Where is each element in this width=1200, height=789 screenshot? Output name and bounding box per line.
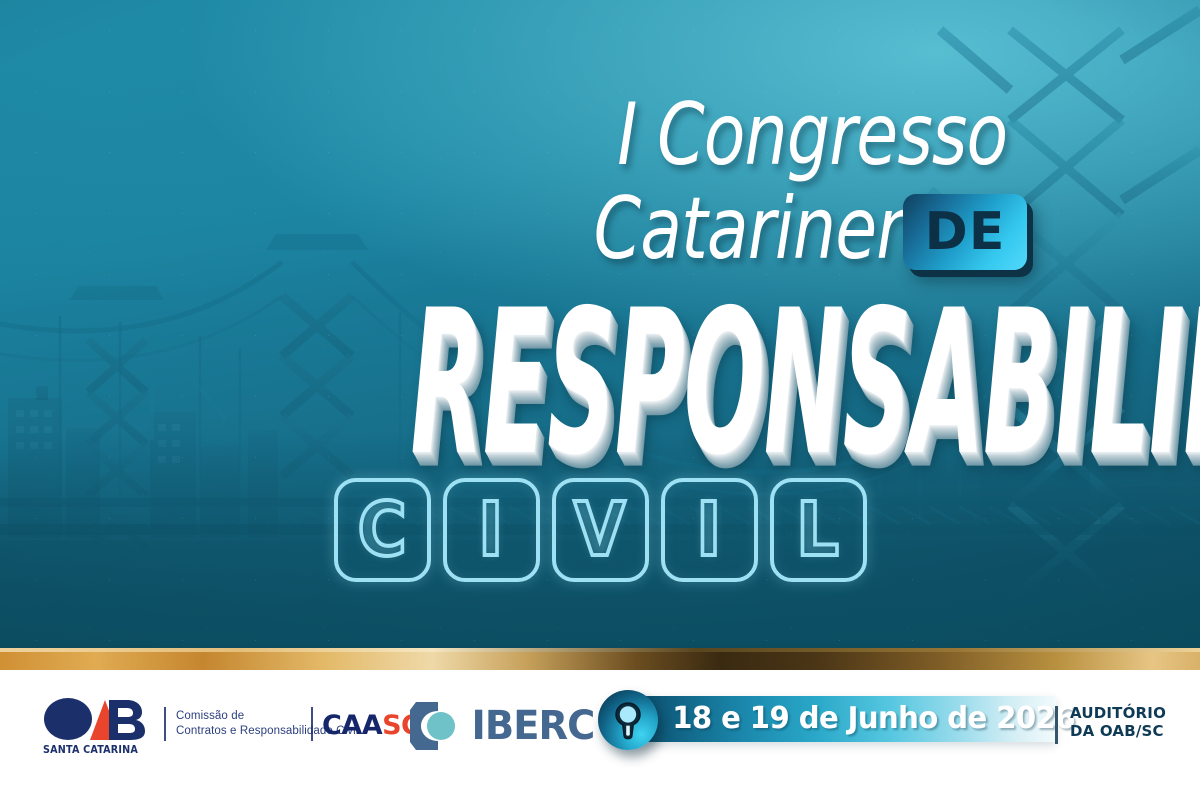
event-poster: I Congresso Catarinense DE RESPONSABILID… — [0, 0, 1200, 789]
caasc-caa: CAA — [322, 710, 382, 741]
civil-letter-box: I — [443, 478, 540, 582]
event-date-bar: 18 e 19 de Junho de 2026 — [620, 696, 1056, 742]
civil-letter: C — [358, 493, 407, 567]
title-line-1: I Congresso — [617, 92, 1007, 178]
footer-divider-2 — [311, 707, 313, 741]
event-date-text: 18 e 19 de Junho de 2026 — [672, 703, 1075, 735]
svg-text:SANTA CATARINA: SANTA CATARINA — [43, 744, 139, 756]
civil-letter-boxes: C I V I L — [0, 478, 1200, 582]
iberc-logo: IBERC — [408, 698, 568, 754]
gold-divider-highlight — [0, 648, 1200, 652]
iberc-bracket-circle-icon — [408, 700, 460, 752]
venue-text: AUDITÓRIO DA OAB/SC — [1070, 704, 1166, 740]
location-pin-icon — [598, 690, 658, 750]
footer-divider-3 — [1055, 706, 1058, 744]
de-badge-label: DE — [925, 206, 1006, 258]
civil-letter: I — [479, 493, 504, 567]
oab-logo-icon: SANTA CATARINA — [43, 698, 147, 756]
civil-letter-box: C — [334, 478, 431, 582]
civil-letter-box: L — [770, 478, 867, 582]
civil-letter: V — [574, 493, 626, 567]
civil-letter: I — [697, 493, 722, 567]
civil-letter-box: V — [552, 478, 649, 582]
venue-line-1: AUDITÓRIO — [1070, 704, 1166, 722]
civil-letter-box: I — [661, 478, 758, 582]
de-badge: DE — [903, 194, 1027, 270]
venue-line-2: DA OAB/SC — [1070, 722, 1166, 740]
civil-letter: L — [797, 493, 839, 567]
headline-responsabilidade: RESPONSABILIDADE — [0, 296, 1200, 462]
iberc-wordmark: IBERC — [472, 706, 595, 746]
headline-text: RESPONSABILIDADE — [411, 296, 1200, 472]
footer-divider-1 — [164, 707, 166, 741]
title-block: I Congresso Catarinense DE RESPONSABILID… — [0, 0, 1200, 648]
oab-state-label: SANTA CATARINA — [43, 744, 139, 756]
caasc-logo: CAASC — [322, 711, 420, 741]
